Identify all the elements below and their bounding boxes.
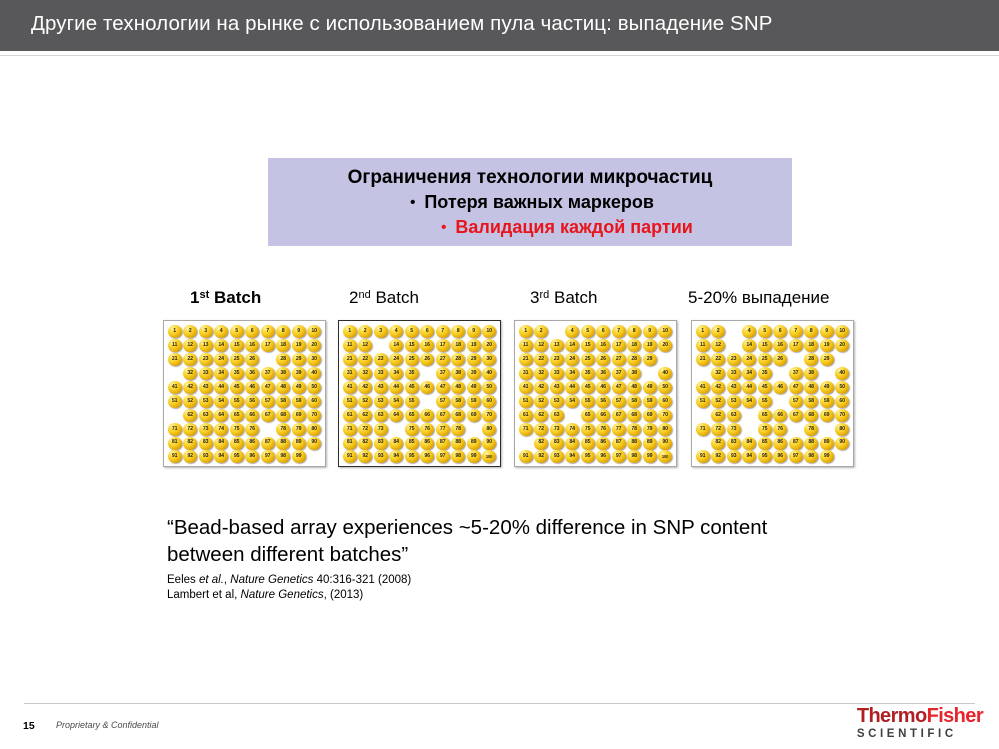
bead-number: 64 bbox=[218, 413, 223, 418]
bead-icon: 84 bbox=[742, 437, 756, 450]
bead-icon: 7 bbox=[789, 325, 803, 338]
bead-slot: 76 bbox=[420, 422, 436, 436]
citation-detail: , (2013) bbox=[324, 589, 364, 601]
bead-slot: 54 bbox=[214, 394, 230, 408]
bead-icon: 2 bbox=[534, 325, 548, 338]
bead-slot: 50 bbox=[307, 381, 323, 395]
bead-icon: 16 bbox=[245, 339, 259, 352]
bead-slot: 9 bbox=[291, 325, 307, 339]
bead-slot: 73 bbox=[549, 422, 565, 436]
bead-slot: 15 bbox=[229, 339, 245, 353]
bead-number: 59 bbox=[647, 399, 652, 404]
bead-icon: 71 bbox=[343, 423, 357, 436]
bead-number: 54 bbox=[218, 399, 223, 404]
bead-number: 53 bbox=[203, 399, 208, 404]
citation-etal: et al. bbox=[199, 574, 224, 586]
bead-icon: 59 bbox=[820, 395, 834, 408]
bead-number: 97 bbox=[440, 454, 445, 459]
bead-slot: 96 bbox=[420, 450, 436, 464]
bead-icon: 95 bbox=[405, 450, 419, 463]
bead-slot: 23 bbox=[726, 353, 742, 367]
bead-slot-empty: 79 bbox=[819, 422, 835, 436]
bead-number: 78 bbox=[808, 427, 813, 432]
bead-number: 58 bbox=[631, 399, 636, 404]
bead-slot: 52 bbox=[711, 394, 727, 408]
bead-number: 67 bbox=[616, 413, 621, 418]
bead-slot: 51 bbox=[518, 394, 534, 408]
bead-number: 8 bbox=[282, 329, 285, 334]
bead-number: 52 bbox=[715, 399, 720, 404]
bead-icon: 78 bbox=[627, 423, 641, 436]
bead-number: 32 bbox=[362, 371, 367, 376]
bead-number: 52 bbox=[187, 399, 192, 404]
bead-slot: 100 bbox=[482, 450, 498, 464]
header-divider bbox=[0, 51, 999, 56]
bead-slot: 34 bbox=[389, 367, 405, 381]
bead-number: 76 bbox=[424, 427, 429, 432]
bead-slot: 87 bbox=[435, 436, 451, 450]
bead-number: 10 bbox=[662, 329, 667, 334]
bead-slot: 53 bbox=[549, 394, 565, 408]
bead-slot-empty: 61 bbox=[695, 408, 711, 422]
bead-number: 97 bbox=[616, 454, 621, 459]
bead-slot: 23 bbox=[198, 353, 214, 367]
bead-icon: 14 bbox=[389, 339, 403, 352]
bead-slot: 30 bbox=[307, 353, 323, 367]
bead-slot: 99 bbox=[466, 450, 482, 464]
bead-number: 50 bbox=[486, 385, 491, 390]
bead-icon: 59 bbox=[467, 395, 481, 408]
bead-icon: 69 bbox=[643, 409, 657, 422]
bead-slot: 27 bbox=[435, 353, 451, 367]
bead-number: 16 bbox=[249, 343, 254, 348]
bead-number: 63 bbox=[554, 413, 559, 418]
bead-slot: 47 bbox=[611, 381, 627, 395]
bead-slot: 14 bbox=[742, 339, 758, 353]
bead-icon: 58 bbox=[804, 395, 818, 408]
bead-icon: 88 bbox=[276, 437, 290, 450]
bead-slot: 18 bbox=[627, 339, 643, 353]
bead-number: 5 bbox=[586, 329, 589, 334]
bead-icon: 50 bbox=[835, 381, 849, 394]
bead-slot: 57 bbox=[611, 394, 627, 408]
bead-slot: 78 bbox=[276, 422, 292, 436]
bead-slot: 79 bbox=[291, 422, 307, 436]
bead-slot: 47 bbox=[260, 381, 276, 395]
bead-number: 4 bbox=[395, 329, 398, 334]
bead-number: 32 bbox=[715, 371, 720, 376]
bead-slot-empty: 77 bbox=[260, 422, 276, 436]
bead-number: 46 bbox=[600, 385, 605, 390]
bead-icon: 69 bbox=[820, 409, 834, 422]
bead-number: 21 bbox=[523, 357, 528, 362]
bead-number: 60 bbox=[311, 399, 316, 404]
bead-number: 85 bbox=[409, 440, 414, 445]
bead-slot: 91 bbox=[695, 450, 711, 464]
bead-slot-empty: 100 bbox=[835, 450, 851, 464]
bead-icon: 75 bbox=[405, 423, 419, 436]
bead-number: 81 bbox=[347, 440, 352, 445]
bead-slot-empty: 64 bbox=[742, 408, 758, 422]
bead-icon: 37 bbox=[261, 367, 275, 380]
bead-slot: 77 bbox=[611, 422, 627, 436]
bead-slot: 33 bbox=[726, 367, 742, 381]
bead-number: 82 bbox=[187, 440, 192, 445]
bead-number: 94 bbox=[746, 454, 751, 459]
bead-icon: 81 bbox=[168, 437, 182, 450]
bead-number: 90 bbox=[311, 440, 316, 445]
logo-scientific-text: SCIENTIFIC bbox=[857, 728, 983, 741]
bead-number: 63 bbox=[203, 413, 208, 418]
bead-icon: 31 bbox=[343, 367, 357, 380]
bead-icon: 27 bbox=[436, 353, 450, 366]
bead-icon: 11 bbox=[696, 339, 710, 352]
bead-number: 98 bbox=[455, 454, 460, 459]
bead-slot: 1 bbox=[695, 325, 711, 339]
bead-icon: 7 bbox=[261, 325, 275, 338]
bead-icon: 46 bbox=[245, 381, 259, 394]
bead-icon: 63 bbox=[550, 409, 564, 422]
bead-slot: 5 bbox=[757, 325, 773, 339]
bead-slot: 27 bbox=[611, 353, 627, 367]
bead-icon: 100 bbox=[482, 450, 496, 463]
bead-number: 8 bbox=[633, 329, 636, 334]
bead-slot: 86 bbox=[420, 436, 436, 450]
bead-number: 17 bbox=[616, 343, 621, 348]
bead-icon: 99 bbox=[467, 450, 481, 463]
bead-slot: 86 bbox=[773, 436, 789, 450]
bead-number: 78 bbox=[631, 427, 636, 432]
bead-icon: 34 bbox=[565, 367, 579, 380]
bead-icon: 52 bbox=[183, 395, 197, 408]
bead-slot-empty: 64 bbox=[565, 408, 581, 422]
bead-icon: 47 bbox=[261, 381, 275, 394]
bead-number: 43 bbox=[731, 385, 736, 390]
bead-icon: 38 bbox=[276, 367, 290, 380]
bead-icon: 86 bbox=[420, 437, 434, 450]
bead-slot: 30 bbox=[482, 353, 498, 367]
bead-icon: 21 bbox=[519, 353, 533, 366]
bead-icon: 73 bbox=[727, 423, 741, 436]
batch-name: Batch bbox=[375, 288, 418, 307]
bead-slot: 94 bbox=[214, 450, 230, 464]
bead-slot-empty: 31 bbox=[167, 367, 183, 381]
bead-icon: 25 bbox=[581, 353, 595, 366]
bead-slot: 97 bbox=[260, 450, 276, 464]
bead-icon: 62 bbox=[534, 409, 548, 422]
bead-number: 71 bbox=[523, 427, 528, 432]
bead-number: 75 bbox=[585, 427, 590, 432]
bead-slot: 24 bbox=[742, 353, 758, 367]
bead-slot: 53 bbox=[373, 394, 389, 408]
bead-number: 86 bbox=[424, 440, 429, 445]
bead-icon: 41 bbox=[343, 381, 357, 394]
bead-slot: 24 bbox=[565, 353, 581, 367]
bead-slot: 8 bbox=[804, 325, 820, 339]
bead-icon: 39 bbox=[292, 367, 306, 380]
bead-slot: 54 bbox=[742, 394, 758, 408]
bead-icon: 79 bbox=[292, 423, 306, 436]
bead-slot: 50 bbox=[482, 381, 498, 395]
callout-bullet-2-label: Валидация каждой партии bbox=[455, 217, 692, 237]
batch-ordinal-suffix: rd bbox=[539, 289, 549, 301]
confidentiality-notice: Proprietary & Confidential bbox=[56, 720, 159, 730]
bead-icon: 12 bbox=[358, 339, 372, 352]
bead-icon: 34 bbox=[389, 367, 403, 380]
bead-slot-empty: 61 bbox=[167, 408, 183, 422]
bead-icon: 87 bbox=[436, 437, 450, 450]
bead-icon: 68 bbox=[804, 409, 818, 422]
bead-number: 69 bbox=[824, 413, 829, 418]
bead-icon: 67 bbox=[261, 409, 275, 422]
bead-number: 77 bbox=[440, 427, 445, 432]
bead-icon: 43 bbox=[727, 381, 741, 394]
bead-number: 93 bbox=[554, 454, 559, 459]
bead-slot: 19 bbox=[819, 339, 835, 353]
bead-slot: 72 bbox=[358, 422, 374, 436]
bead-icon: 13 bbox=[199, 339, 213, 352]
bead-icon: 30 bbox=[482, 353, 496, 366]
bead-slot: 10 bbox=[658, 325, 674, 339]
bead-icon: 12 bbox=[711, 339, 725, 352]
bead-slot: 76 bbox=[596, 422, 612, 436]
bead-number: 60 bbox=[839, 399, 844, 404]
bead-number: 46 bbox=[777, 385, 782, 390]
bead-number: 85 bbox=[762, 440, 767, 445]
bead-number: 93 bbox=[378, 454, 383, 459]
bead-number: 58 bbox=[455, 399, 460, 404]
bead-number: 51 bbox=[523, 399, 528, 404]
bead-slot: 82 bbox=[358, 436, 374, 450]
bead-slot: 35 bbox=[580, 367, 596, 381]
bead-icon: 37 bbox=[789, 367, 803, 380]
bead-number: 74 bbox=[569, 427, 574, 432]
bead-slot: 69 bbox=[291, 408, 307, 422]
bead-icon: 61 bbox=[519, 409, 533, 422]
bead-number: 53 bbox=[731, 399, 736, 404]
bead-number: 50 bbox=[662, 385, 667, 390]
bead-slot: 49 bbox=[642, 381, 658, 395]
bead-icon: 37 bbox=[612, 367, 626, 380]
bead-number: 4 bbox=[220, 329, 223, 334]
bead-icon: 67 bbox=[436, 409, 450, 422]
bead-slot: 84 bbox=[389, 436, 405, 450]
bead-number: 18 bbox=[455, 343, 460, 348]
bead-slot: 29 bbox=[642, 353, 658, 367]
bead-icon: 48 bbox=[627, 381, 641, 394]
bead-number: 54 bbox=[393, 399, 398, 404]
bead-slot: 92 bbox=[183, 450, 199, 464]
bead-icon: 25 bbox=[758, 353, 772, 366]
bead-slot: 62 bbox=[534, 408, 550, 422]
quote-text: “Bead-based array experiences ~5-20% dif… bbox=[167, 514, 847, 568]
bead-number: 15 bbox=[409, 343, 414, 348]
bead-slot: 95 bbox=[229, 450, 245, 464]
bead-slot: 99 bbox=[291, 450, 307, 464]
bead-number: 24 bbox=[569, 357, 574, 362]
bead-slot: 82 bbox=[534, 436, 550, 450]
bead-slot: 86 bbox=[596, 436, 612, 450]
bead-slot: 29 bbox=[466, 353, 482, 367]
bead-slot: 20 bbox=[307, 339, 323, 353]
bead-slot: 29 bbox=[291, 353, 307, 367]
bead-slot: 40 bbox=[482, 367, 498, 381]
bead-slot: 75 bbox=[757, 422, 773, 436]
bead-icon: 92 bbox=[358, 450, 372, 463]
batch-label-row: 1st Batch 2nd Batch 3rd Batch 5-20% выпа… bbox=[0, 288, 999, 314]
bead-number: 94 bbox=[218, 454, 223, 459]
bead-slot: 20 bbox=[835, 339, 851, 353]
bead-number: 14 bbox=[569, 343, 574, 348]
bead-slot: 36 bbox=[596, 367, 612, 381]
bead-slot: 92 bbox=[711, 450, 727, 464]
bead-number: 8 bbox=[810, 329, 813, 334]
bead-slot: 87 bbox=[260, 436, 276, 450]
bead-slot: 2 bbox=[358, 325, 374, 339]
bead-number: 13 bbox=[203, 343, 208, 348]
bead-slot: 61 bbox=[518, 408, 534, 422]
bead-slot: 32 bbox=[358, 367, 374, 381]
bead-icon: 28 bbox=[451, 353, 465, 366]
bead-number: 27 bbox=[440, 357, 445, 362]
bead-icon: 32 bbox=[358, 367, 372, 380]
bead-number: 33 bbox=[554, 371, 559, 376]
bead-slot: 55 bbox=[757, 394, 773, 408]
bead-icon: 54 bbox=[389, 395, 403, 408]
bead-number: 2 bbox=[364, 329, 367, 334]
bead-icon: 19 bbox=[467, 339, 481, 352]
bead-slot: 35 bbox=[404, 367, 420, 381]
bead-icon: 4 bbox=[565, 325, 579, 338]
bead-slot: 84 bbox=[742, 436, 758, 450]
bead-number: 11 bbox=[523, 343, 528, 348]
bead-number: 9 bbox=[472, 329, 475, 334]
bead-slot: 60 bbox=[482, 394, 498, 408]
bead-slot: 94 bbox=[742, 450, 758, 464]
bead-icon: 42 bbox=[183, 381, 197, 394]
bead-icon: 22 bbox=[534, 353, 548, 366]
bead-number: 33 bbox=[731, 371, 736, 376]
bead-icon: 77 bbox=[612, 423, 626, 436]
bead-icon: 7 bbox=[612, 325, 626, 338]
bead-icon: 46 bbox=[420, 381, 434, 394]
limitations-callout: Ограничения технологии микрочастиц •Поте… bbox=[268, 158, 792, 246]
bead-icon: 73 bbox=[199, 423, 213, 436]
bead-number: 96 bbox=[249, 454, 254, 459]
bead-slot: 94 bbox=[389, 450, 405, 464]
bead-slot: 37 bbox=[260, 367, 276, 381]
bead-icon: 40 bbox=[658, 367, 672, 380]
bead-icon: 77 bbox=[436, 423, 450, 436]
bead-icon: 19 bbox=[292, 339, 306, 352]
bead-slot: 14 bbox=[214, 339, 230, 353]
bead-icon: 19 bbox=[820, 339, 834, 352]
bead-number: 5 bbox=[763, 329, 766, 334]
bead-icon: 93 bbox=[550, 450, 564, 463]
bead-slot: 7 bbox=[611, 325, 627, 339]
bead-icon: 72 bbox=[358, 423, 372, 436]
bead-icon: 55 bbox=[581, 395, 595, 408]
bead-slot: 39 bbox=[291, 367, 307, 381]
bead-number: 35 bbox=[762, 371, 767, 376]
bead-number: 60 bbox=[662, 399, 667, 404]
bead-number: 28 bbox=[280, 357, 285, 362]
bead-icon: 98 bbox=[804, 450, 818, 463]
bead-number: 65 bbox=[409, 413, 414, 418]
bead-icon: 95 bbox=[581, 450, 595, 463]
citation-2: Lambert et al, Nature Genetics, (2013) bbox=[167, 588, 847, 603]
bead-icon: 44 bbox=[214, 381, 228, 394]
bead-slot: 43 bbox=[373, 381, 389, 395]
bead-number: 43 bbox=[554, 385, 559, 390]
bead-number: 15 bbox=[234, 343, 239, 348]
bead-slot-empty: 30 bbox=[835, 353, 851, 367]
bead-number: 41 bbox=[523, 385, 528, 390]
bead-icon: 94 bbox=[389, 450, 403, 463]
bead-slot: 91 bbox=[342, 450, 358, 464]
bead-number: 15 bbox=[762, 343, 767, 348]
bead-slot: 46 bbox=[773, 381, 789, 395]
bead-icon: 16 bbox=[420, 339, 434, 352]
bead-slot: 88 bbox=[627, 436, 643, 450]
bead-icon: 1 bbox=[696, 325, 710, 338]
bead-slot: 63 bbox=[198, 408, 214, 422]
bead-number: 50 bbox=[311, 385, 316, 390]
bead-number: 40 bbox=[486, 371, 491, 376]
bead-number: 26 bbox=[777, 357, 782, 362]
bead-icon: 34 bbox=[742, 367, 756, 380]
bead-icon: 13 bbox=[550, 339, 564, 352]
bead-number: 6 bbox=[251, 329, 254, 334]
bead-number: 75 bbox=[762, 427, 767, 432]
bead-icon: 85 bbox=[405, 437, 419, 450]
bead-icon: 33 bbox=[727, 367, 741, 380]
bead-slot: 41 bbox=[167, 381, 183, 395]
bead-slot: 48 bbox=[451, 381, 467, 395]
bead-icon: 47 bbox=[436, 381, 450, 394]
bead-slot: 54 bbox=[565, 394, 581, 408]
bead-number: 80 bbox=[486, 427, 491, 432]
bead-slot: 57 bbox=[435, 394, 451, 408]
bead-number: 20 bbox=[486, 343, 491, 348]
bead-number: 31 bbox=[347, 371, 352, 376]
bead-number: 39 bbox=[471, 371, 476, 376]
bead-slot: 82 bbox=[183, 436, 199, 450]
bead-icon: 1 bbox=[519, 325, 533, 338]
bead-icon: 59 bbox=[643, 395, 657, 408]
bead-number: 4 bbox=[748, 329, 751, 334]
bead-number: 31 bbox=[523, 371, 528, 376]
bead-slot: 65 bbox=[757, 408, 773, 422]
bead-icon: 85 bbox=[581, 437, 595, 450]
bead-number: 22 bbox=[715, 357, 720, 362]
bead-slot: 12 bbox=[534, 339, 550, 353]
bead-icon: 49 bbox=[820, 381, 834, 394]
bead-number: 6 bbox=[426, 329, 429, 334]
bead-number: 38 bbox=[280, 371, 285, 376]
bead-number: 87 bbox=[616, 440, 621, 445]
bead-icon: 23 bbox=[550, 353, 564, 366]
bead-icon: 38 bbox=[804, 367, 818, 380]
bead-slot: 60 bbox=[307, 394, 323, 408]
bead-icon: 39 bbox=[467, 367, 481, 380]
bead-slot: 25 bbox=[757, 353, 773, 367]
bead-number: 86 bbox=[249, 440, 254, 445]
bead-icon: 57 bbox=[612, 395, 626, 408]
bead-slot: 37 bbox=[788, 367, 804, 381]
bead-slot: 80 bbox=[482, 422, 498, 436]
bead-number: 100 bbox=[486, 455, 492, 459]
